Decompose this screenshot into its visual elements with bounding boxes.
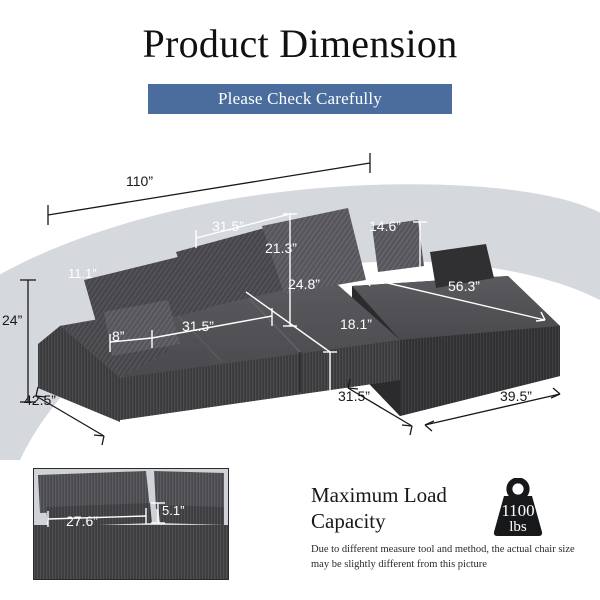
dimension-label-overall-width: 110” [126,173,153,189]
max-load-heading: Maximum Load Capacity [311,482,481,534]
dimension-label-seat-height: 18.1” [340,316,372,332]
dimension-label-seat-depth: 24.8” [288,276,320,292]
dimension-label-chaise-width: 39.5” [500,388,532,404]
banner-label: Please Check Carefully [218,89,382,109]
dimension-label-armrest-pillow-height: 14.6” [369,218,401,234]
dimension-label-arm-height: 11.1” [68,266,97,281]
inset-label-seat-back-width: 27.6” [66,513,98,529]
dimension-label-overall-depth: 42.5” [24,392,56,408]
dimension-label-chaise-front-depth: 31.5” [338,388,370,404]
max-load-heading-line1: Maximum Load [311,482,481,508]
dimension-label-seat-cushion-width: 31.5” [182,318,214,334]
sofa-illustration: 110” 24” 42.5” 31.5” 39.5” 31.5” 21.3” 1… [0,130,600,460]
dimension-label-back-cushion-height: 21.3” [265,240,297,256]
sofa-diagram-svg [0,130,600,460]
dimension-label-overall-height: 24” [2,312,22,328]
weight-icon-svg: 1100 lbs [487,478,549,540]
dimension-label-back-cushion-width: 31.5” [212,218,244,234]
page-title: Product Dimension [0,20,600,67]
weight-value: 1100 [501,501,534,520]
dimension-label-seat-gap: 8” [112,328,124,344]
seat-back-detail-svg [34,469,228,579]
product-dimension-infographic: Product Dimension Please Check Carefully [0,0,600,600]
weight-unit: lbs [509,519,527,535]
max-load-heading-line2: Capacity [311,508,481,534]
inset-label-seat-back-thickness: 5.1” [162,503,184,518]
dimension-label-chaise-length: 56.3” [448,278,480,294]
disclaimer-text: Due to different measure tool and method… [311,542,579,572]
seat-back-detail-inset: 27.6” 5.1” [33,468,229,580]
weight-icon: 1100 lbs [487,478,549,540]
check-carefully-banner: Please Check Carefully [148,84,452,114]
